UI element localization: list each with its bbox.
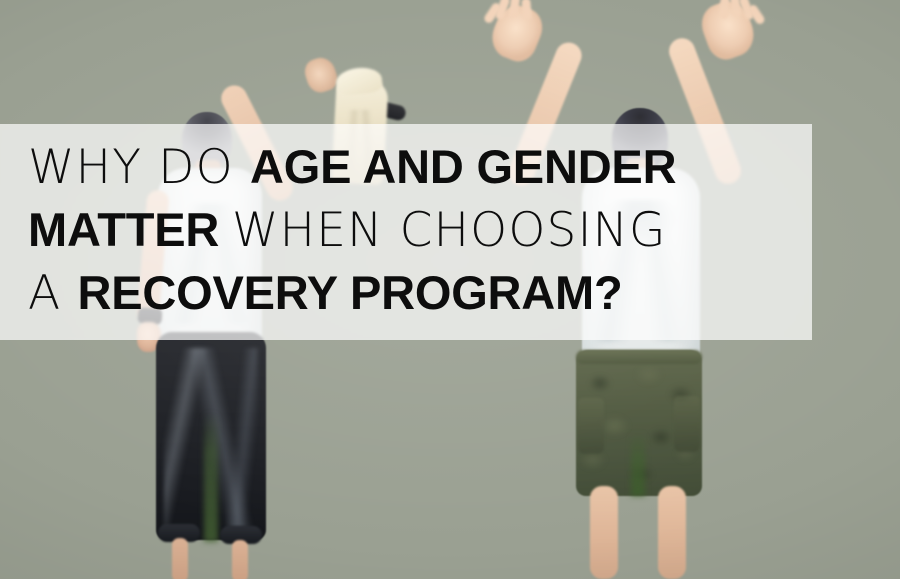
headline-line-3: A RECOVERY PROGRAM? [28,262,796,325]
headline-line-1-light: WHY DO [28,140,250,195]
headline-line-2-light: WHEN CHOOSING [232,203,667,258]
page-title: WHY DO AGE AND GENDER MATTER WHEN CHOOSI… [28,136,796,325]
headline-overlay-panel: WHY DO AGE AND GENDER MATTER WHEN CHOOSI… [0,124,812,340]
headline-line-1: WHY DO AGE AND GENDER [28,136,796,199]
headline-line-2-bold: MATTER [28,203,232,256]
headline-line-1-bold: AGE AND GENDER [250,140,676,193]
headline-line-3-bold: RECOVERY PROGRAM? [78,266,623,319]
headline-line-2: MATTER WHEN CHOOSING [28,199,796,262]
hero-banner: WHY DO AGE AND GENDER MATTER WHEN CHOOSI… [0,0,900,579]
headline-line-3-light: A [28,266,78,321]
